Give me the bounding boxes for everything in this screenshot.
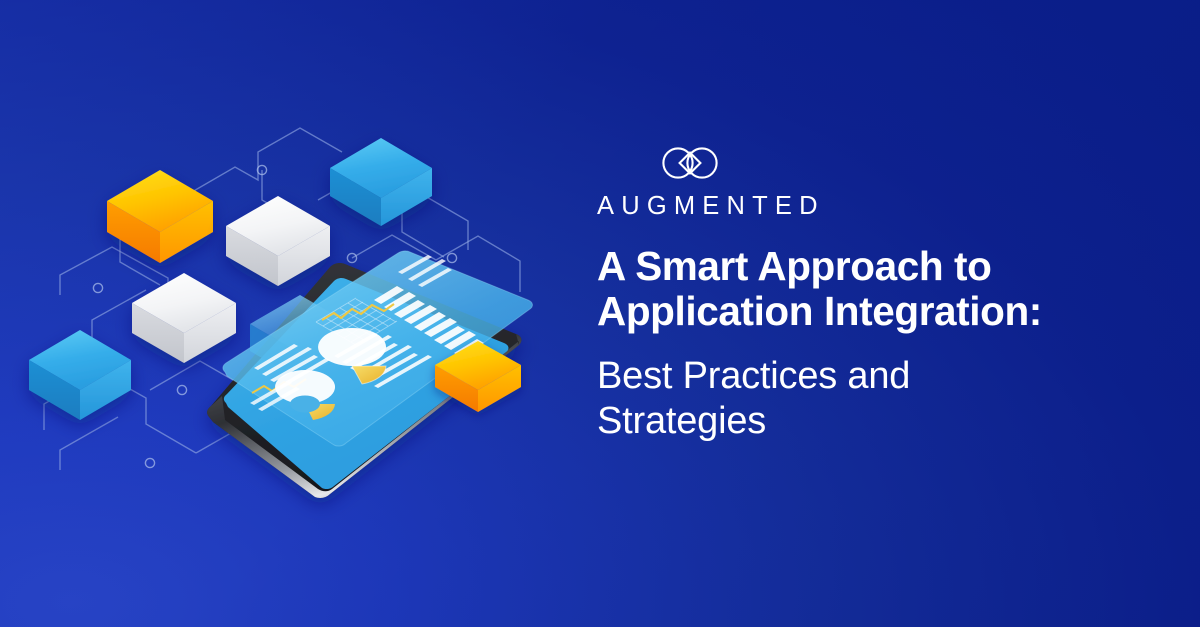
illustration-isometric-mobile-dashboard xyxy=(0,0,580,627)
page-title: A Smart Approach to Application Integrat… xyxy=(597,244,1177,336)
cube-blue-top-right xyxy=(330,138,432,226)
page-subtitle: Best Practices and Strategies xyxy=(597,354,1177,443)
content-column: AUGMENTED A Smart Approach to Applicatio… xyxy=(597,146,1177,443)
interlocking-circles-diamond-icon xyxy=(659,146,1177,185)
cube-orange-top-left xyxy=(107,170,213,263)
brand-lockup: AUGMENTED xyxy=(597,146,1177,220)
banner-root: AUGMENTED A Smart Approach to Applicatio… xyxy=(0,0,1200,627)
cube-white-upper xyxy=(226,196,330,286)
brand-wordmark: AUGMENTED xyxy=(597,194,1177,220)
